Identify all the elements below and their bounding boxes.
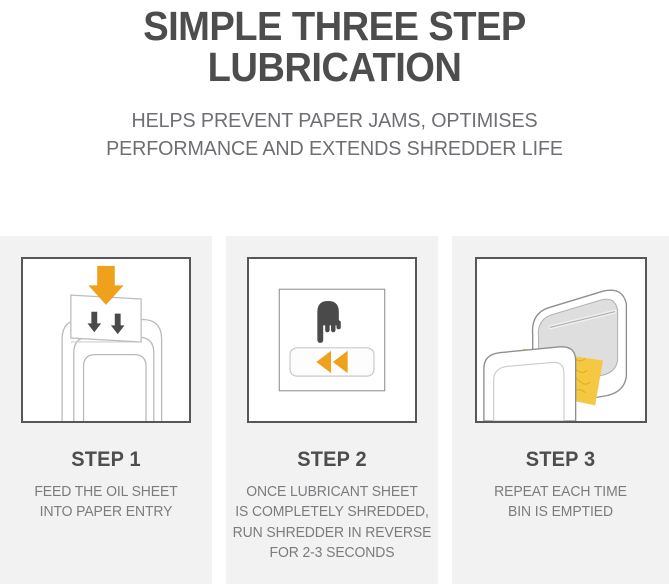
step-3-caption: REPEAT EACH TIME BIN IS EMPTIED [455, 482, 665, 523]
step-1-title: STEP 1 [5, 448, 206, 472]
step-2-title: STEP 2 [231, 448, 432, 472]
step-panel-2: STEP 2 ONCE LUBRICANT SHEET IS COMPLETEL… [226, 236, 438, 584]
step-2-caption-line-4: FOR 2-3 SECONDS [229, 543, 435, 563]
step-2-caption-line-3: RUN SHREDDER IN REVERSE [229, 523, 435, 543]
panel-divider-1 [212, 236, 226, 584]
step-3-title: STEP 3 [457, 448, 663, 472]
reverse-button-shape [290, 348, 374, 376]
subtitle-line-1: HELPS PREVENT PAPER JAMS, OPTIMISES [42, 107, 627, 135]
step-1-caption-line-2: INTO PAPER ENTRY [3, 502, 209, 522]
step-1-figure [21, 257, 191, 423]
step-1-caption: FEED THE OIL SHEET INTO PAPER ENTRY [3, 482, 209, 523]
page-title: SIMPLE THREE STEP LUBRICATION [23, 6, 645, 87]
panel-divider-2 [438, 236, 452, 584]
step-2-figure [247, 257, 417, 423]
title-line-1: SIMPLE THREE STEP [143, 3, 525, 49]
step-3-figure [475, 257, 647, 423]
step-panel-3: STEP 3 REPEAT EACH TIME BIN IS EMPTIED [452, 236, 669, 584]
header: SIMPLE THREE STEP LUBRICATION HELPS PREV… [0, 0, 669, 163]
step-2-caption-line-2: IS COMPLETELY SHREDDED, [229, 502, 435, 522]
step-3-caption-line-1: REPEAT EACH TIME [455, 482, 665, 502]
step-2-caption: ONCE LUBRICANT SHEET IS COMPLETELY SHRED… [229, 482, 435, 564]
subtitle-line-2: PERFORMANCE AND EXTENDS SHREDDER LIFE [42, 135, 627, 163]
page-subtitle: HELPS PREVENT PAPER JAMS, OPTIMISES PERF… [13, 107, 655, 162]
step-2-caption-line-1: ONCE LUBRICANT SHEET [229, 482, 435, 502]
steps-container: STEP 1 FEED THE OIL SHEET INTO PAPER ENT… [0, 236, 669, 584]
step-3-caption-line-2: BIN IS EMPTIED [455, 502, 665, 522]
step-1-caption-line-1: FEED THE OIL SHEET [3, 482, 209, 502]
step-panel-1: STEP 1 FEED THE OIL SHEET INTO PAPER ENT… [0, 236, 212, 584]
title-line-2: LUBRICATION [42, 47, 627, 88]
